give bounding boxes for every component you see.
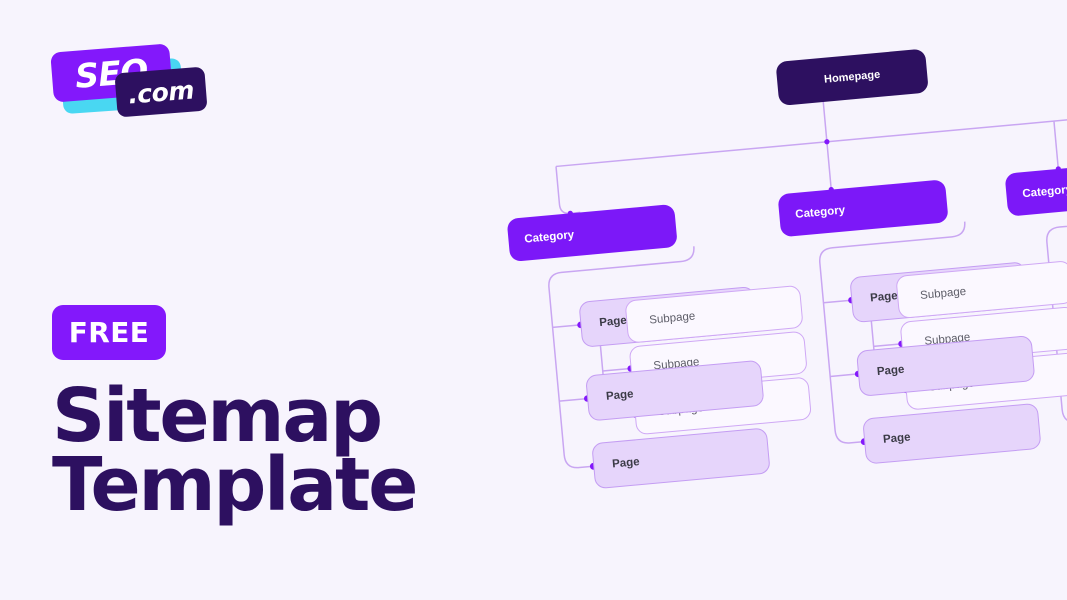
node-homepage-label: Homepage: [824, 69, 881, 86]
sitemap-diagram: Homepage Category Page Subpage Subpage S…: [417, 0, 1067, 600]
page-title: Sitemap Template: [52, 382, 452, 520]
sitemap-template-graphic: SEO .com FREE Sitemap Template: [0, 0, 1067, 600]
page-title-line-2: Template: [52, 451, 452, 520]
node-page-1-2-label: Page: [606, 388, 634, 402]
free-badge-label: FREE: [69, 316, 150, 349]
page-title-line-1: Sitemap: [52, 382, 452, 451]
left-panel: SEO .com FREE Sitemap Template: [0, 0, 470, 600]
node-page-1-3-label: Page: [612, 456, 640, 470]
node-category-1-label: Category: [524, 229, 575, 245]
node-page-2-2-label: Page: [876, 364, 904, 378]
node-category-3-label: Category: [1022, 183, 1067, 199]
free-badge: FREE: [52, 305, 166, 360]
logo-com-box: .com: [114, 67, 207, 118]
node-page-1-1-label: Page: [599, 315, 627, 329]
node-page-2-1-label: Page: [870, 290, 898, 304]
node-category-2-label: Category: [795, 204, 846, 220]
node-subpage-2-1-1-label: Subpage: [920, 285, 967, 301]
node-subpage-1-1-1-label: Subpage: [649, 310, 696, 326]
seo-dot-com-logo[interactable]: SEO .com: [52, 40, 252, 120]
logo-com-text: .com: [127, 75, 195, 109]
node-page-2-3-label: Page: [883, 431, 911, 445]
